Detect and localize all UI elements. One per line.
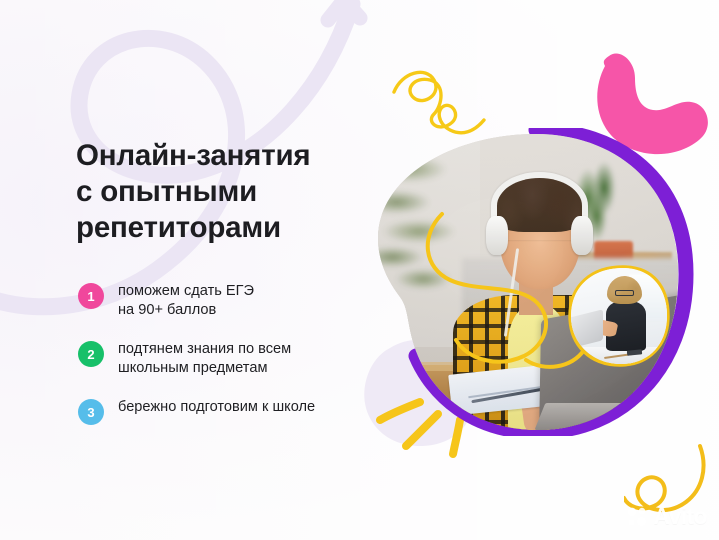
benefit-badge-1: 1: [78, 283, 104, 309]
hero-photo-group: [372, 128, 708, 436]
yellow-curly-squiggle-icon: [392, 62, 496, 138]
page-title: Онлайн-занятия с опытными репетиторами: [76, 138, 376, 246]
avito-dots-icon: [626, 506, 648, 528]
benefit-text-1: поможем сдать ЕГЭ на 90+ баллов: [118, 282, 254, 320]
list-item: 3 бережно подготовим к школе: [78, 398, 388, 425]
glasses-icon: [615, 290, 634, 296]
tutor-inset-photo: [567, 264, 671, 368]
benefit-badge-2: 2: [78, 341, 104, 367]
list-item: 1 поможем сдать ЕГЭ на 90+ баллов: [78, 282, 388, 320]
list-item: 2 подтянем знания по всем школьным предм…: [78, 340, 388, 378]
avito-watermark: Avito: [626, 503, 707, 530]
promo-poster: Онлайн-занятия с опытными репетиторами 1…: [0, 0, 719, 540]
benefit-badge-3: 3: [78, 399, 104, 425]
benefit-text-3: бережно подготовим к школе: [118, 398, 315, 417]
phone: [626, 349, 642, 355]
tutor-photo: [571, 268, 667, 364]
benefits-list: 1 поможем сдать ЕГЭ на 90+ баллов 2 подт…: [78, 282, 388, 425]
avito-wordmark: Avito: [653, 503, 707, 530]
benefit-text-2: подтянем знания по всем школьным предмет…: [118, 340, 291, 378]
